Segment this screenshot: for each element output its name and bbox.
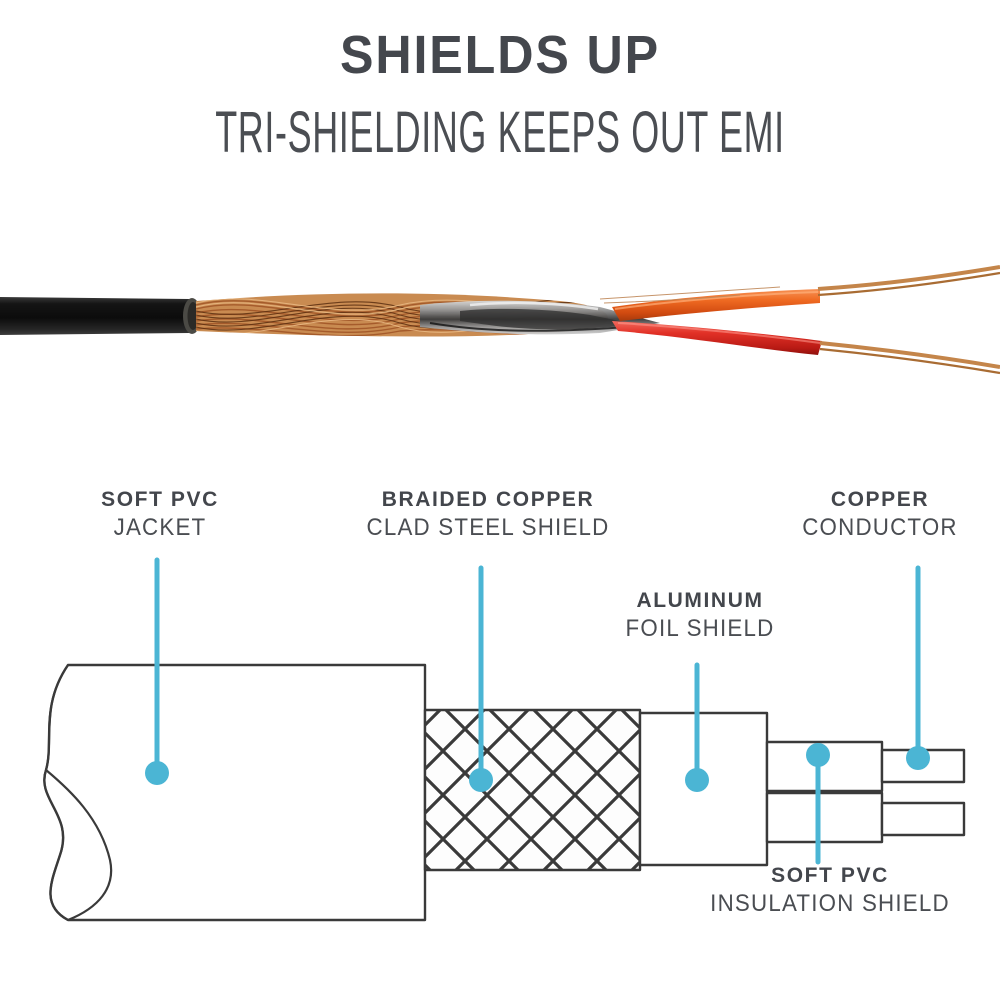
braided-shield-layer — [425, 710, 640, 870]
leader-dot-copper — [906, 746, 930, 770]
leader-dot-pvc-insulation — [806, 743, 830, 767]
soft-pvc-jacket-layer — [44, 665, 425, 920]
copper-conductor-lower-layer — [882, 803, 964, 835]
leader-dot-jacket — [145, 761, 169, 785]
pvc-insulation-lower-layer — [767, 793, 882, 842]
cable-cross-section-diagram — [0, 0, 1000, 1000]
leader-dot-aluminum — [685, 768, 709, 792]
leader-dot-braid — [469, 768, 493, 792]
infographic-root: SHIELDS UP TRI-SHIELDING KEEPS OUT EMI — [0, 0, 1000, 1000]
